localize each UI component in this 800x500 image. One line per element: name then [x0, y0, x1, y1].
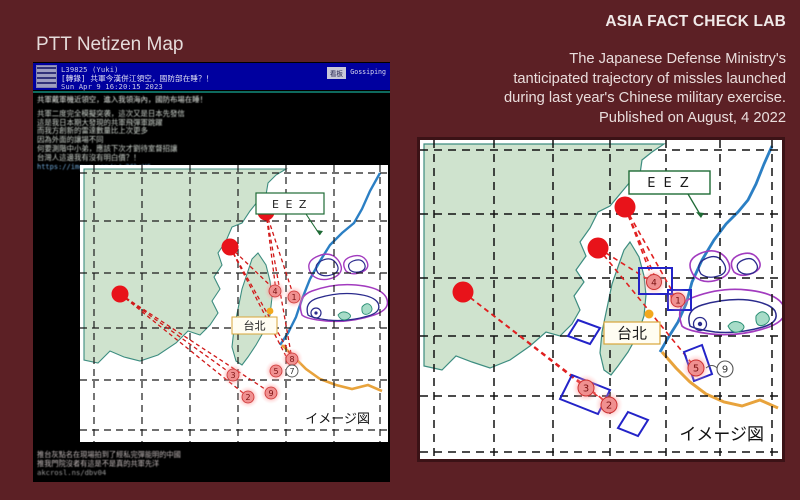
right-map-panel: 4 1 5 3 2 9 台北 E E Z: [417, 137, 785, 462]
svg-text:5: 5: [273, 367, 278, 376]
left-map: 1 4 8 5 7 3 2 9 台北 E E Z: [80, 165, 388, 442]
svg-text:E E Z: E E Z: [647, 176, 691, 191]
svg-text:3: 3: [230, 371, 235, 380]
right-map: 4 1 5 3 2 9 台北 E E Z: [420, 140, 782, 459]
svg-text:台北: 台北: [617, 325, 647, 343]
ptt-footer-line: 推我門院沒者有這是不是真的共軍先洋: [37, 459, 181, 468]
svg-text:2: 2: [606, 401, 612, 412]
ptt-body-line: 台灣人這邊我有沒有明白價？！: [37, 154, 388, 163]
caption-line-3: during last year's Chinese military exer…: [434, 89, 786, 109]
svg-text:台北: 台北: [244, 319, 266, 333]
taipei-label: 台北: [232, 317, 277, 334]
caption-line-1: The Japanese Defense Ministry's: [434, 50, 786, 70]
svg-text:1: 1: [291, 293, 296, 302]
svg-text:9: 9: [268, 389, 273, 398]
taipei-dot: [645, 310, 654, 319]
caption-line-4: Published on August, 4 2022: [434, 109, 786, 129]
ptt-date-line: Sun Apr 9 16:20:15 2023: [61, 82, 163, 91]
svg-text:8: 8: [289, 355, 294, 364]
svg-text:4: 4: [272, 287, 277, 296]
ptt-logo-icon: [36, 65, 57, 88]
ptt-footer-line: 推台灰點名在現場拍到了經私完彈能明的中國: [37, 450, 181, 459]
svg-text:9: 9: [722, 365, 728, 376]
left-panel-title: PTT Netizen Map: [36, 34, 183, 56]
svg-text:7: 7: [289, 367, 294, 376]
svg-text:E E Z: E E Z: [272, 198, 308, 211]
image-diagram-label: イメージ図: [679, 425, 764, 445]
caption-block: The Japanese Defense Ministry's tanticip…: [434, 50, 786, 128]
right-map-svg: 4 1 5 3 2 9 台北 E E Z: [420, 140, 782, 459]
ptt-footer: 推台灰點名在現場拍到了經私完彈能明的中國 推我門院沒者有這是不是真的共軍先洋 a…: [37, 450, 181, 477]
ptt-divider: [33, 91, 390, 93]
ptt-board-tag: 看板: [327, 67, 346, 79]
ptt-header-bar: L39825 (Yuki) [轉錄] 共軍今漢併江領空，國防部在睡？！ Sun …: [33, 63, 390, 90]
caption-line-2: tanticipated trajectory of missles launc…: [434, 70, 786, 90]
ptt-footer-url: akcrosl.ns/dbv04: [37, 468, 181, 477]
ptt-board-name: Gossiping: [350, 68, 386, 76]
svg-text:4: 4: [651, 279, 657, 289]
ptt-post-body: 共軍戴軍機近領空，進入我領海內，國防布場在睡！ 共軍二度完全模擬突袭，這次又是日…: [37, 96, 388, 171]
svg-text:1: 1: [675, 297, 681, 307]
ptt-screenshot: L39825 (Yuki) [轉錄] 共軍今漢併江領空，國防部在睡？！ Sun …: [33, 62, 390, 482]
image-diagram-label: イメージ図: [305, 412, 370, 427]
taipei-dot: [267, 308, 274, 315]
svg-text:3: 3: [583, 384, 589, 395]
left-map-svg: 1 4 8 5 7 3 2 9 台北 E E Z: [80, 165, 388, 442]
svg-text:2: 2: [245, 393, 250, 402]
svg-text:5: 5: [693, 364, 699, 375]
ptt-body-line: 共軍戴軍機近領空，進入我領海內，國防布場在睡！: [37, 96, 388, 105]
brand-title: ASIA FACT CHECK LAB: [605, 13, 786, 31]
taipei-label: 台北: [604, 322, 660, 344]
